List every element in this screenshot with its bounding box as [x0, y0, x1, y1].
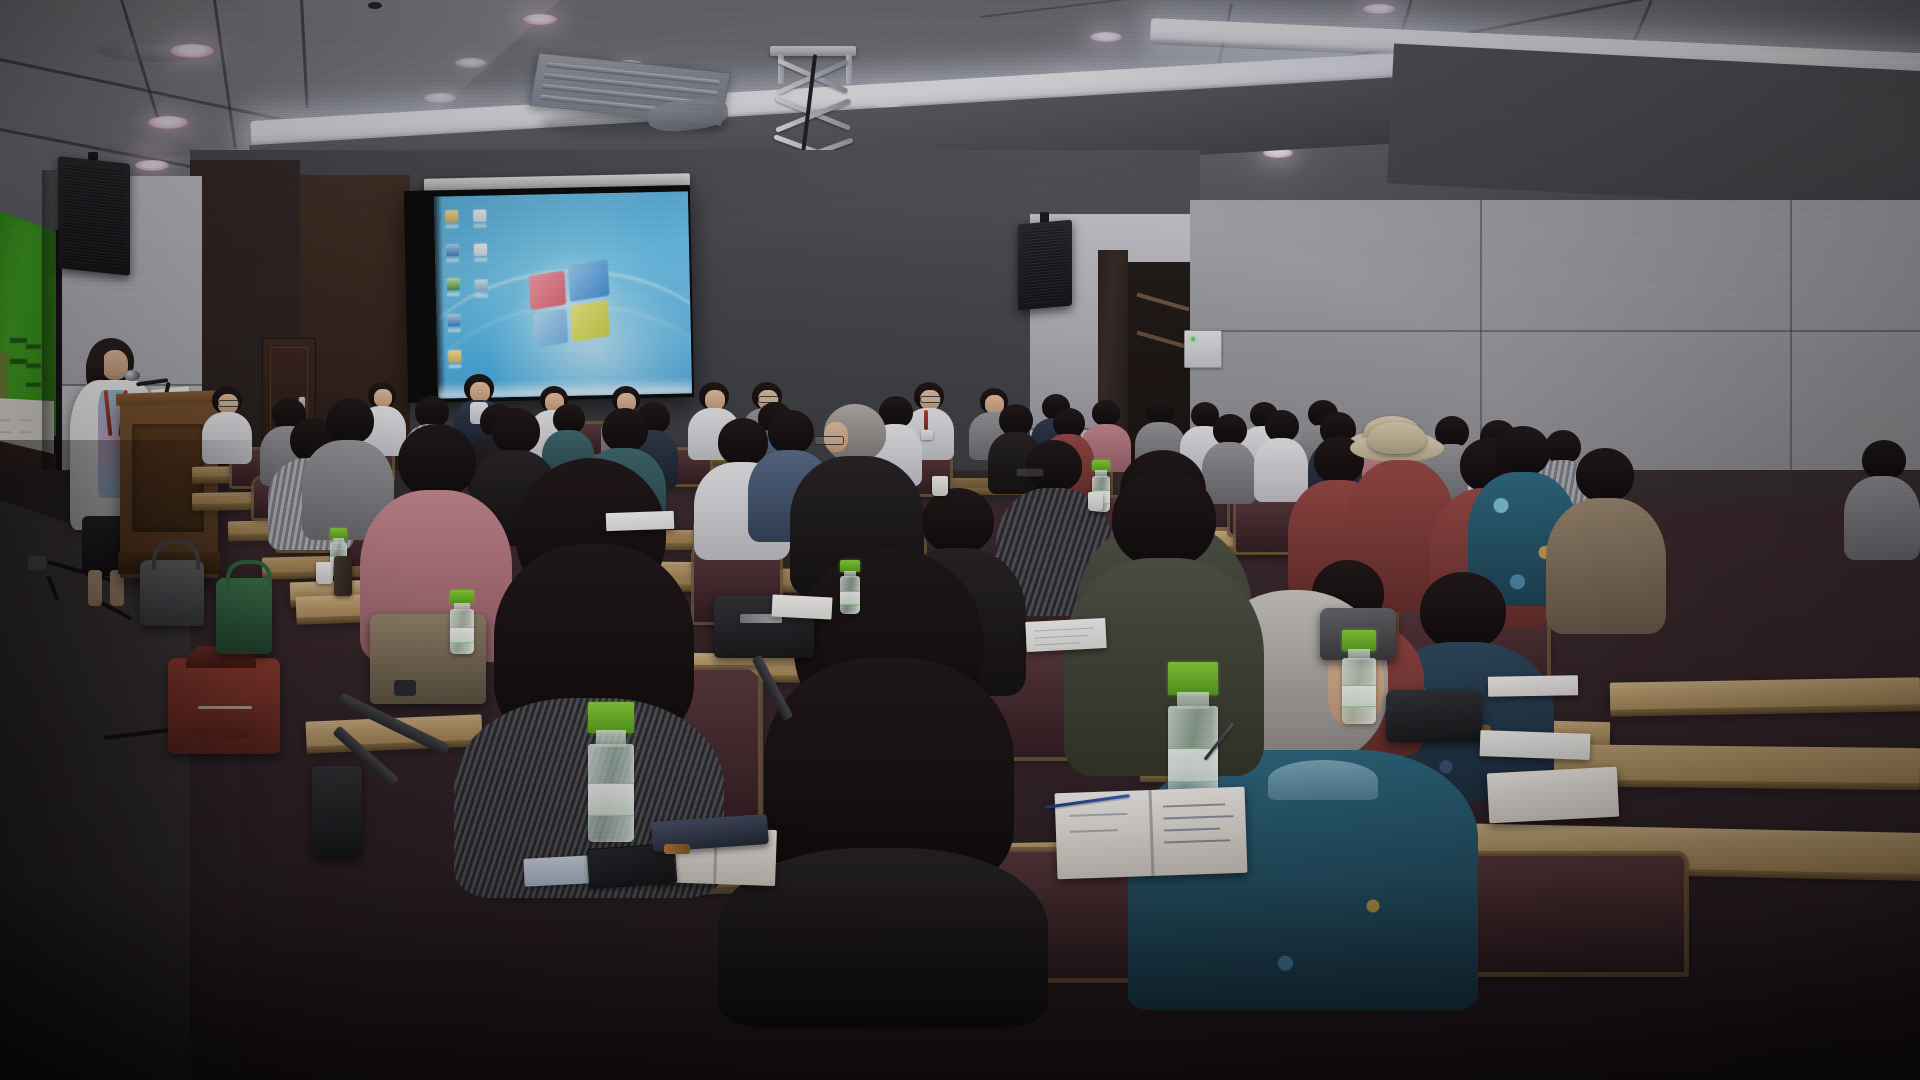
icon-computer-icon: [446, 244, 459, 256]
handwriting-line: [1163, 803, 1225, 807]
backpack-zipper: [198, 706, 252, 709]
backpack-pocket: [192, 694, 256, 738]
handwriting-line: [1164, 828, 1220, 832]
ceiling-downlight: [148, 116, 188, 129]
wall-seam: [1790, 200, 1792, 470]
water-bottle[interactable]: [450, 590, 474, 654]
handbag-handle: [152, 540, 200, 570]
head: [602, 408, 648, 452]
windows-pane-yellow: [570, 300, 610, 342]
notebook: [606, 511, 675, 531]
bottle-label: [840, 591, 860, 605]
lanyard: [924, 410, 928, 430]
head: [922, 488, 994, 554]
head: [1092, 400, 1120, 426]
sun-hat: [1368, 422, 1426, 454]
icon-media-player-icon: [447, 278, 460, 290]
head: [1496, 426, 1550, 476]
bottle-cap: [1168, 662, 1218, 695]
presenter-leg: [88, 570, 102, 606]
icon-label: [448, 364, 461, 368]
shirt-collar: [1268, 760, 1378, 800]
speaker-grille: [64, 165, 124, 267]
ceiling-downlight: [455, 58, 487, 68]
audience-person: [1546, 448, 1666, 628]
note-line: [1034, 642, 1080, 645]
glasses: [218, 400, 240, 407]
wall-control-panel[interactable]: [1184, 330, 1222, 368]
water-bottle[interactable]: [588, 702, 634, 842]
handwriting-line: [1164, 839, 1230, 843]
icon-label: [473, 224, 486, 228]
desktop-icon[interactable]: [447, 278, 460, 296]
wall-seam: [1190, 330, 1920, 332]
icon-label: [475, 294, 488, 298]
papers-stack: [1488, 675, 1578, 697]
desktop-icon[interactable]: [475, 280, 488, 298]
desktop-icon[interactable]: [448, 350, 461, 368]
water-bottle[interactable]: [840, 560, 860, 614]
icon-document-1-icon: [473, 210, 486, 222]
tote-bag-handle: [226, 560, 272, 588]
desktop-icon[interactable]: [446, 244, 459, 262]
notebook: [1025, 618, 1106, 652]
handwriting-line: [1070, 829, 1118, 833]
highlighter[interactable]: [664, 844, 690, 854]
face: [470, 382, 490, 402]
paper-cup[interactable]: [1088, 492, 1103, 511]
icon-folder-2-icon: [448, 350, 461, 362]
audience-person: [1844, 440, 1920, 560]
ceiling-downlight: [1090, 32, 1122, 42]
projector-lift-post: [846, 54, 852, 84]
icon-label: [448, 328, 461, 332]
icon-label: [474, 258, 487, 262]
banner-glyph-row: ▬▬▬: [26, 336, 41, 393]
ceiling-downlight: [135, 160, 169, 171]
notebook: [771, 594, 832, 619]
glasses: [814, 436, 844, 445]
note-line: [1034, 628, 1094, 632]
bottle-label: [450, 627, 474, 643]
head: [1146, 398, 1174, 424]
head: [1112, 470, 1216, 568]
thermos[interactable]: [334, 556, 352, 596]
water-bottle[interactable]: [1342, 630, 1376, 724]
projection-screen[interactable]: [434, 191, 692, 398]
icon-folder-1-icon: [445, 210, 458, 222]
ceiling-downlight: [424, 93, 456, 103]
ceiling-soffit-right: [1387, 43, 1920, 212]
desktop-icon[interactable]: [473, 210, 486, 228]
bag-buckle: [394, 680, 416, 696]
chair[interactable]: [1456, 854, 1686, 974]
bottle-cap: [1342, 630, 1376, 651]
papers-stack: [1480, 730, 1591, 760]
desktop-icon[interactable]: [445, 210, 458, 228]
open-notebook: [1487, 767, 1619, 824]
audience-person: [200, 386, 254, 462]
smoke-detector: [368, 2, 382, 9]
bag: [1386, 690, 1482, 742]
book-spine: [1148, 790, 1154, 876]
torso: [1844, 476, 1920, 560]
seminar-room-photo: ▬▬ ▬▬▬ ▬▬ — — — — —: [0, 0, 1920, 1080]
icon-label: [447, 292, 460, 296]
table-row-7: [1610, 677, 1920, 710]
icon-document-2-icon: [474, 244, 487, 256]
head: [1862, 440, 1906, 480]
handwriting-line: [1163, 815, 1233, 819]
paper-cup[interactable]: [316, 562, 333, 584]
bottle-cap: [588, 702, 634, 733]
handwriting-line: [1069, 813, 1127, 817]
desktop-icon[interactable]: [474, 244, 487, 262]
note-line: [1034, 635, 1088, 639]
windows-pane-blue: [568, 259, 610, 302]
icon-recycle-bin-icon: [475, 280, 488, 292]
bottle-label: [588, 783, 634, 816]
torso: [202, 412, 252, 464]
floor-outlet: [28, 556, 46, 570]
pa-speaker-left: [58, 156, 130, 276]
bag: [312, 766, 362, 858]
torso: [1064, 558, 1264, 776]
torso: [1546, 498, 1666, 634]
microphone-head: [124, 370, 140, 381]
icon-browser-icon: [447, 314, 460, 326]
face: [705, 390, 725, 410]
speaker-grille: [1023, 226, 1067, 304]
ceiling-downlight: [1363, 4, 1395, 14]
pa-speaker-right: [1018, 220, 1072, 311]
head: [1576, 448, 1634, 502]
bottle-label: [1342, 685, 1376, 708]
windows-logo-icon: [527, 259, 614, 353]
glasses: [1016, 468, 1044, 477]
banner-color-swatch: [0, 352, 8, 400]
ceiling-downlight: [523, 14, 557, 25]
windows-pane-lblue: [533, 308, 568, 348]
desktop-icon[interactable]: [447, 314, 460, 332]
panel-led: [1191, 337, 1195, 341]
ceiling-dome-diffuser: [100, 136, 200, 158]
icon-label: [445, 224, 458, 228]
paper-cup[interactable]: [932, 476, 948, 496]
ceiling-downlight: [170, 44, 214, 58]
tote-bag: [216, 578, 272, 654]
windows-pane-red: [529, 270, 566, 310]
icon-label: [446, 258, 459, 262]
